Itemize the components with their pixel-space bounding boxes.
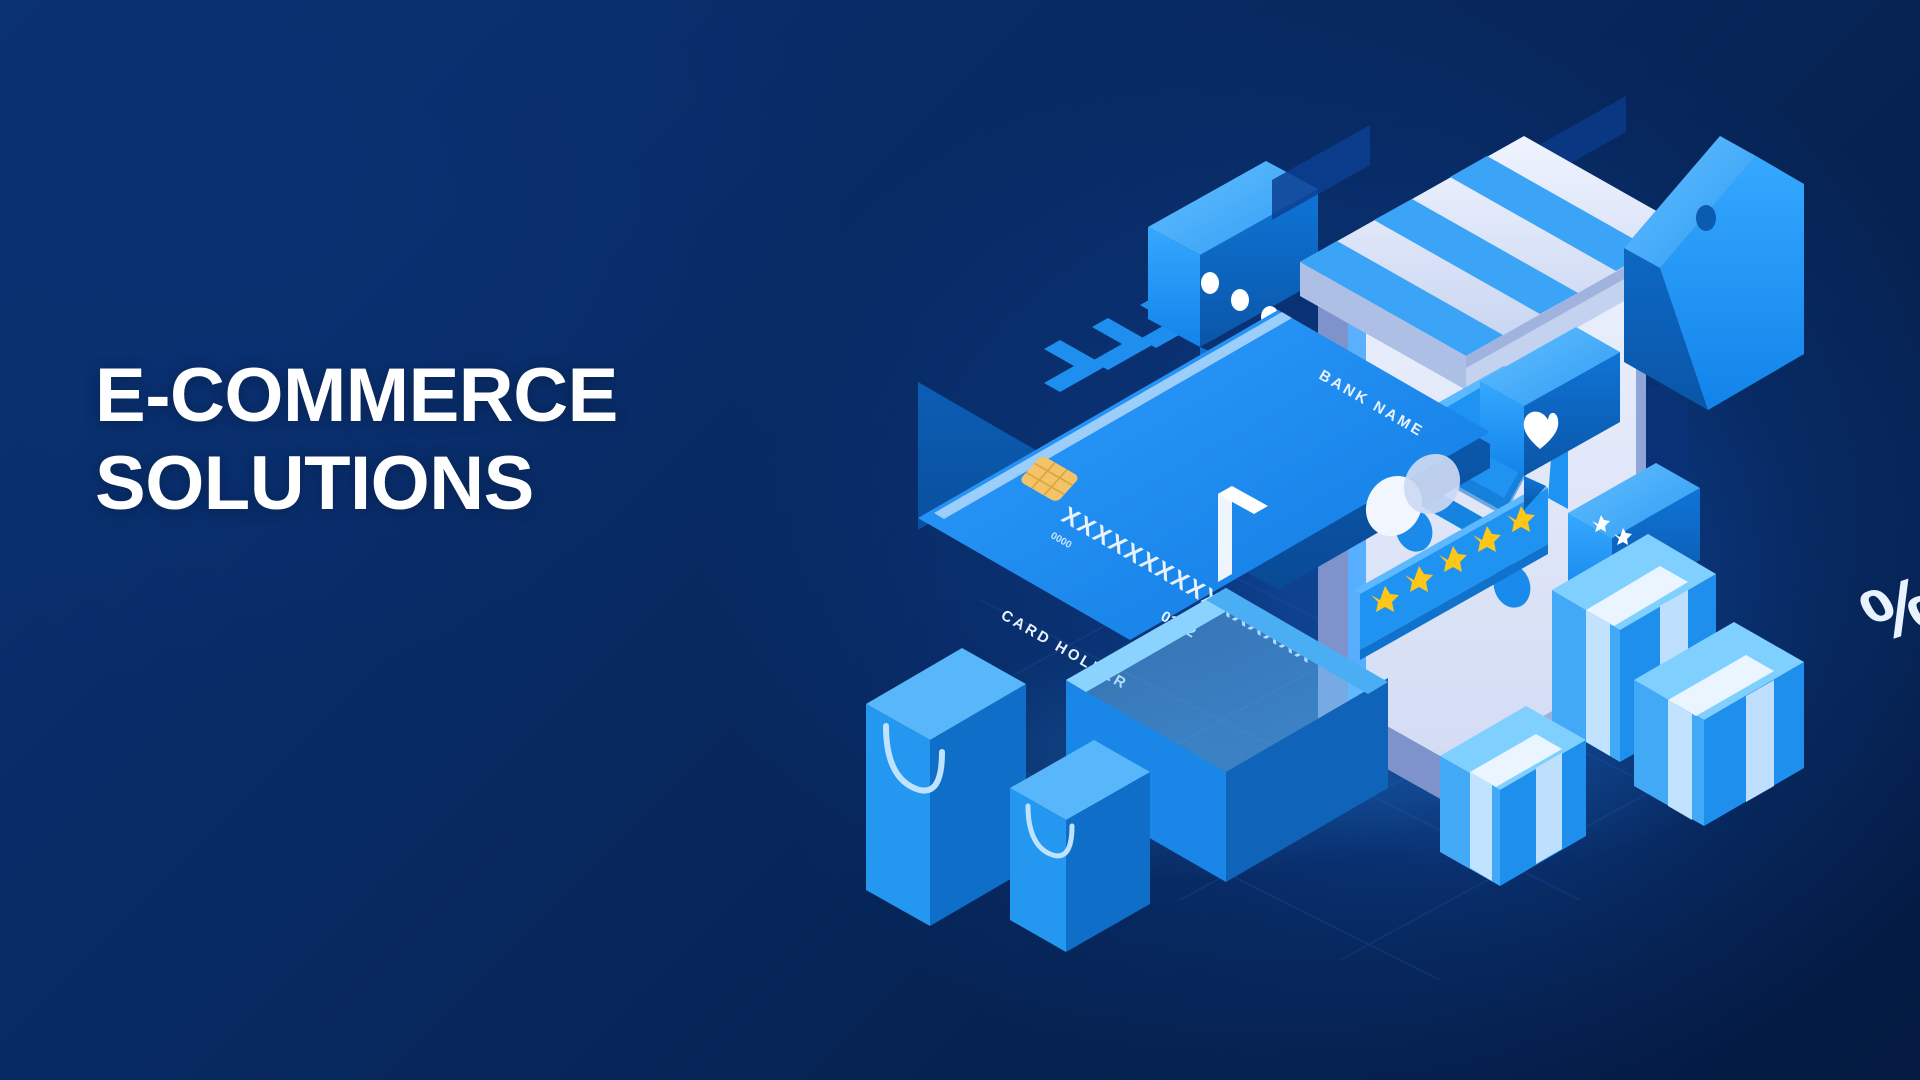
ecommerce-illustration: % BANK NAME bbox=[0, 0, 1920, 1080]
shopping-bag-large bbox=[866, 648, 1026, 926]
tag-hole bbox=[1696, 205, 1716, 231]
ecommerce-hero-banner: E-COMMERCE SOLUTIONS bbox=[0, 0, 1920, 1080]
percent-symbol: % bbox=[1846, 560, 1920, 657]
